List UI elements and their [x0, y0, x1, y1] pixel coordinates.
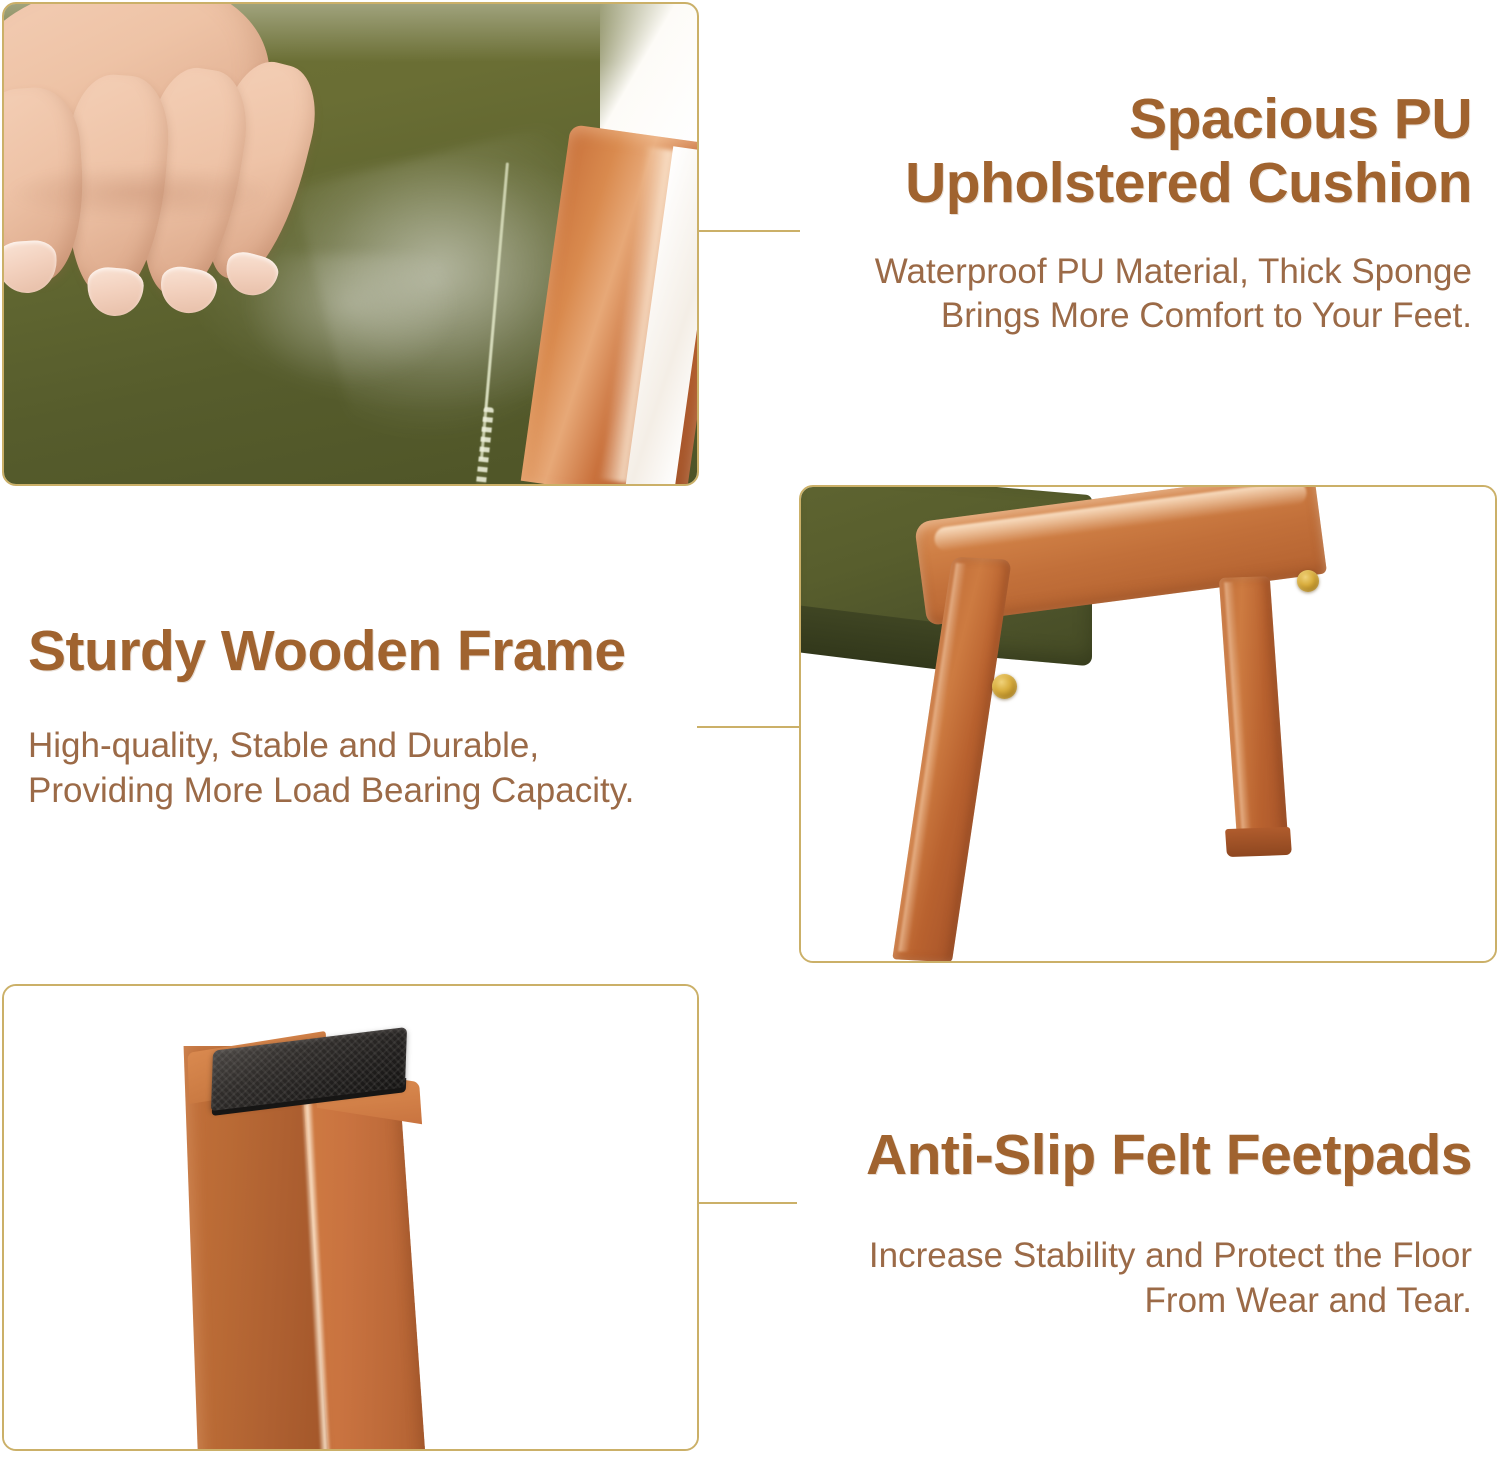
- hand: [4, 4, 392, 330]
- feature-body-feetpad: Increase Stability and Protect the Floor…: [772, 1234, 1472, 1324]
- wooden-leg-right-foot: [1225, 827, 1292, 858]
- fingernail-middle: [85, 266, 145, 319]
- feature-text-feetpad: Anti-Slip Felt Feetpads Increase Stabili…: [772, 1124, 1472, 1323]
- feature-text-cushion: Spacious PU Upholstered Cushion Waterpro…: [772, 88, 1472, 339]
- photo-frame-wooden-frame: [799, 485, 1497, 963]
- feature-body-line2: From Wear and Tear.: [1145, 1281, 1472, 1320]
- knuckle-shadow: [5, 165, 271, 220]
- feature-heading-wooden-frame: Sturdy Wooden Frame: [28, 620, 728, 684]
- feature-body-wooden-frame: High-quality, Stable and Durable, Provid…: [28, 724, 728, 814]
- feature-heading-cushion: Spacious PU Upholstered Cushion: [772, 88, 1472, 216]
- photo-frame-feetpad: [2, 984, 699, 1451]
- brass-screw-upper: [1297, 570, 1319, 592]
- feature-heading-line1: Spacious PU: [1129, 87, 1472, 151]
- feature-body-cushion: Waterproof PU Material, Thick Sponge Bri…: [772, 250, 1472, 340]
- feature-body-line1: Increase Stability and Protect the Floor: [869, 1236, 1472, 1275]
- photo-feetpad: [4, 986, 697, 1449]
- feature-text-wooden-frame: Sturdy Wooden Frame High-quality, Stable…: [28, 620, 728, 813]
- fingernail-ring: [157, 264, 220, 318]
- feature-heading-line2: Upholstered Cushion: [905, 151, 1472, 215]
- feature-body-line2: Brings More Comfort to Your Feet.: [941, 296, 1472, 335]
- feature-heading-feetpad: Anti-Slip Felt Feetpads: [772, 1124, 1472, 1188]
- feature-body-line1: Waterproof PU Material, Thick Sponge: [875, 252, 1472, 291]
- photo-wooden-frame: [801, 487, 1495, 961]
- fingernail-pinky: [220, 248, 281, 301]
- background-gap: [600, 4, 697, 148]
- feature-body-line1: High-quality, Stable and Durable,: [28, 726, 539, 765]
- fingernail-index: [4, 239, 59, 295]
- brass-screw-lower: [992, 674, 1017, 699]
- photo-frame-cushion: [2, 2, 699, 486]
- feature-body-line2: Providing More Load Bearing Capacity.: [28, 771, 634, 810]
- photo-cushion: [4, 4, 697, 484]
